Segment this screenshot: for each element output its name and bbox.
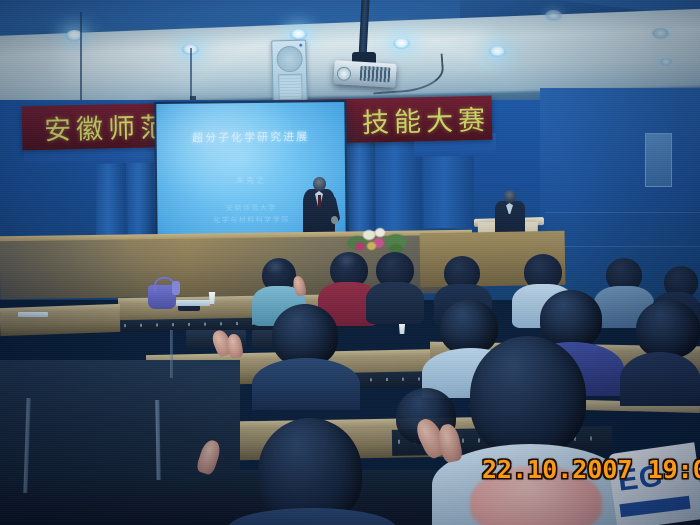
flower-white: [375, 228, 385, 237]
audience-body: [620, 352, 700, 406]
person-at-lectern-head: [504, 190, 516, 203]
slide-presenter-name: 朱克之: [236, 175, 266, 186]
flower-magenta: [355, 242, 365, 251]
slide-title: 超分子化学研究进展: [192, 128, 309, 145]
banner-text-right: 技能大赛: [362, 98, 491, 140]
ceiling-downlight: [545, 10, 562, 21]
flower-white: [363, 230, 375, 240]
hair-highlight: [266, 260, 284, 272]
slide-affiliation-line-1: 安徽师范大学: [226, 203, 277, 214]
slide-affiliation-line-2: 化学与材料科学学院: [213, 215, 290, 226]
banner-text-left: 安徽师范: [44, 105, 173, 147]
stage-curtain: [349, 128, 375, 240]
ceiling-wire: [80, 12, 82, 107]
audience-head: [272, 304, 338, 366]
projector-vent: [360, 66, 391, 83]
audience-head: [636, 300, 700, 358]
photograph: 安徽师范 技能大赛 超分子化学研究进展 朱克之 安徽师范大学 化学与材料科学学院: [0, 0, 700, 525]
ceiling-downlight: [393, 38, 410, 49]
speaker-vent: [278, 74, 303, 101]
ceiling-downlight: [489, 46, 506, 57]
desk-leg: [170, 330, 173, 378]
garment-text: EG: [616, 459, 665, 498]
notebook: [18, 312, 48, 317]
notebook: [176, 300, 210, 306]
presenter-head: [313, 177, 326, 191]
wall-fixture: [645, 133, 672, 187]
audience-head: [440, 300, 498, 354]
projector-lens-icon: [337, 66, 352, 81]
ceiling-downlight: [290, 29, 307, 40]
handbag: [148, 285, 176, 309]
ceiling-downlight: [660, 58, 672, 66]
wall-seam: [545, 246, 700, 247]
ceiling-downlight: [652, 28, 669, 39]
ceiling-projector: [333, 60, 396, 88]
speaker-grille-icon: [276, 46, 303, 73]
presenter-tie: [318, 195, 321, 207]
flower-arrangement: [345, 228, 407, 254]
speaker-led-icon: [299, 44, 302, 47]
screen-glare: [156, 102, 297, 204]
audience-body: [366, 282, 424, 324]
handbag-tag: [172, 281, 180, 295]
presenter-hand: [331, 216, 338, 224]
wall-speaker: [271, 40, 308, 105]
flower-yellow: [367, 242, 376, 250]
wall-seam: [545, 212, 700, 213]
hair-highlight: [338, 254, 356, 266]
audience-body: [252, 358, 360, 410]
foreground-head: [470, 336, 586, 456]
